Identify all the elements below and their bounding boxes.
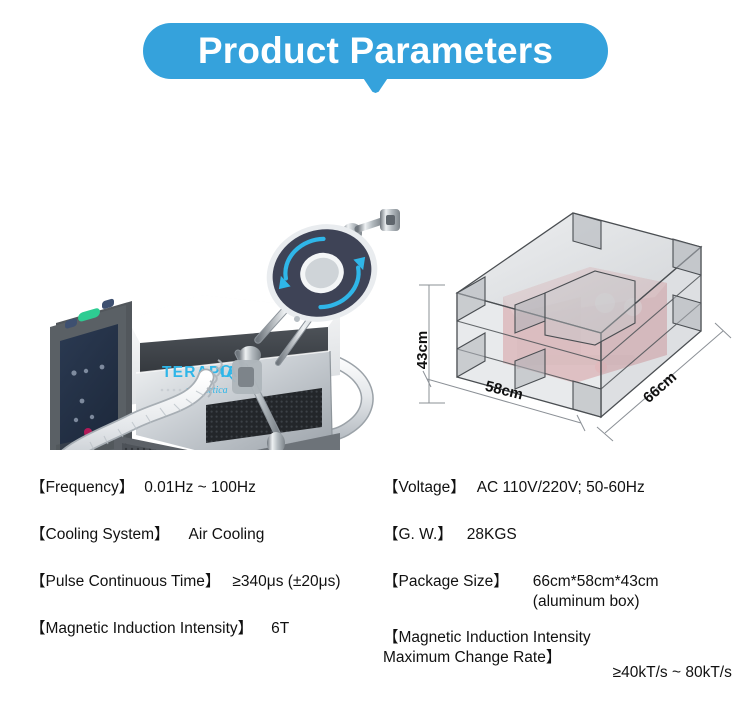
spec-value-max-change-rate: ≥40kT/s ~ 80kT/s	[613, 663, 732, 684]
spec-label-voltage: 【Voltage】	[383, 478, 466, 497]
spec-label-max-change-rate: 【Magnetic Induction Intensity Maximum Ch…	[383, 628, 591, 668]
specs-column-right: 【Voltage】 AC 110V/220V; 50-60Hz 【G. W.】 …	[383, 478, 743, 684]
specs-column-left: 【Frequency】 0.01Hz ~ 100Hz 【Cooling Syst…	[30, 478, 380, 666]
spec-value-package-size: 66cm*58cm*43cm (aluminum box)	[533, 572, 659, 612]
spec-row-max-change-rate: 【Magnetic Induction Intensity Maximum Ch…	[383, 628, 743, 684]
spec-value-magnetic-induction-intensity: 6T	[271, 619, 289, 638]
spec-row-voltage: 【Voltage】 AC 110V/220V; 50-60Hz	[383, 478, 743, 525]
spec-label-package-size: 【Package Size】	[383, 572, 509, 591]
dim-label-height: 43cm	[414, 331, 431, 369]
spec-label-gross-weight: 【G. W.】	[383, 525, 453, 544]
spec-value-voltage: AC 110V/220V; 50-60Hz	[477, 478, 645, 497]
spec-row-cooling-system: 【Cooling System】 Air Cooling	[30, 525, 380, 572]
spec-label-cooling-system: 【Cooling System】	[30, 525, 170, 544]
banner-pill-tail	[363, 77, 389, 93]
spec-value-pulse-continuous-time: ≥340μs (±20μs)	[232, 572, 340, 591]
spec-value-gross-weight: 28KGS	[467, 525, 517, 544]
spec-label-frequency: 【Frequency】	[30, 478, 134, 497]
spec-label-magnetic-induction-intensity: 【Magnetic Induction Intensity】	[30, 619, 253, 638]
spec-row-pulse-continuous-time: 【Pulse Continuous Time】 ≥340μs (±20μs)	[30, 572, 380, 619]
page-header-banner: Product Parameters	[143, 23, 608, 79]
spec-row-magnetic-induction-intensity: 【Magnetic Induction Intensity】 6T	[30, 619, 380, 666]
spec-row-gross-weight: 【G. W.】 28KGS	[383, 525, 743, 572]
spec-value-frequency: 0.01Hz ~ 100Hz	[144, 478, 256, 497]
package-dimensions-diagram: 43cm 58cm 66cm	[405, 205, 750, 450]
device-product-image: TERAPIA magnetica	[10, 105, 420, 450]
spec-value-cooling-system: Air Cooling	[189, 525, 265, 544]
spec-row-frequency: 【Frequency】 0.01Hz ~ 100Hz	[30, 478, 380, 525]
page-title: Product Parameters	[143, 23, 608, 79]
spec-label-pulse-continuous-time: 【Pulse Continuous Time】	[30, 572, 220, 591]
spec-row-package-size: 【Package Size】 66cm*58cm*43cm (aluminum …	[383, 572, 743, 628]
specifications-table: 【Frequency】 0.01Hz ~ 100Hz 【Cooling Syst…	[0, 478, 750, 693]
